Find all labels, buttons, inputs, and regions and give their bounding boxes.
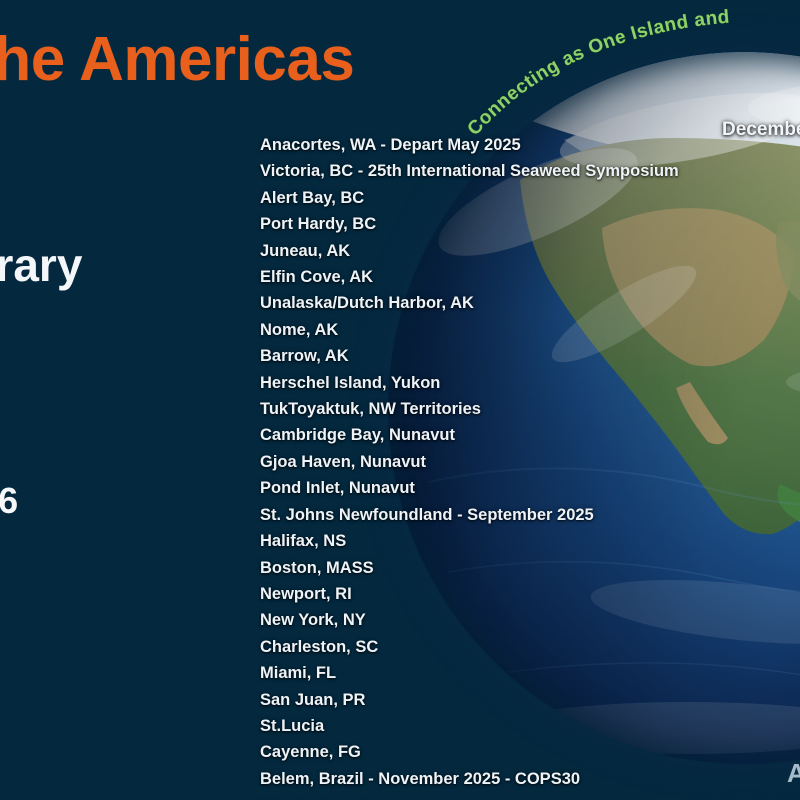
itinerary-stop: Pond Inlet, Nunavut bbox=[260, 475, 780, 501]
itinerary-stop: Alert Bay, BC bbox=[260, 185, 780, 211]
itinerary-stop: Miami, FL bbox=[260, 660, 780, 686]
itinerary-stop: Charleston, SC bbox=[260, 634, 780, 660]
itinerary-stop: Nome, AK bbox=[260, 317, 780, 343]
itinerary-stop: Elfin Cove, AK bbox=[260, 264, 780, 290]
itinerary-stop: Anacortes, WA - Depart May 2025 bbox=[260, 132, 780, 158]
itinerary-stop: Barrow, AK bbox=[260, 343, 780, 369]
itinerary-stop: TukToyaktuk, NW Territories bbox=[260, 396, 780, 422]
itinerary-stop: San Juan, PR bbox=[260, 687, 780, 713]
itinerary-stop: Halifax, NS bbox=[260, 528, 780, 554]
itinerary-stop: New York, NY bbox=[260, 607, 780, 633]
page-title: The Americas bbox=[0, 24, 354, 95]
timeline-dates: June 2026 bbox=[0, 480, 18, 522]
itinerary-stop: Gjoa Haven, Nunavut bbox=[260, 449, 780, 475]
itinerary-stop: Victoria, BC - 25th International Seawee… bbox=[260, 158, 780, 184]
itinerary-subtitle: n Itinerary bbox=[0, 238, 82, 292]
itinerary-stop: Boston, MASS bbox=[260, 555, 780, 581]
itinerary-stop: St.Lucia bbox=[260, 713, 780, 739]
itinerary-stop: Newport, RI bbox=[260, 581, 780, 607]
itinerary-stop: St. Johns Newfoundland - September 2025 bbox=[260, 502, 780, 528]
itinerary-list: Anacortes, WA - Depart May 2025Victoria,… bbox=[260, 132, 780, 800]
itinerary-stop: Cayenne, FG bbox=[260, 739, 780, 765]
itinerary-stop: Rio de Janeiro bbox=[260, 792, 780, 800]
itinerary-stop: Unalaska/Dutch Harbor, AK bbox=[260, 290, 780, 316]
itinerary-stop: Herschel Island, Yukon bbox=[260, 370, 780, 396]
itinerary-stop: Cambridge Bay, Nunavut bbox=[260, 422, 780, 448]
itinerary-stop: Juneau, AK bbox=[260, 238, 780, 264]
presentation-slide: Connecting as One Island and The America… bbox=[0, 0, 800, 800]
itinerary-stop: Belem, Brazil - November 2025 - COPS30 bbox=[260, 766, 780, 792]
itinerary-stop: Port Hardy, BC bbox=[260, 211, 780, 237]
corner-mark: A bbox=[787, 758, 800, 789]
